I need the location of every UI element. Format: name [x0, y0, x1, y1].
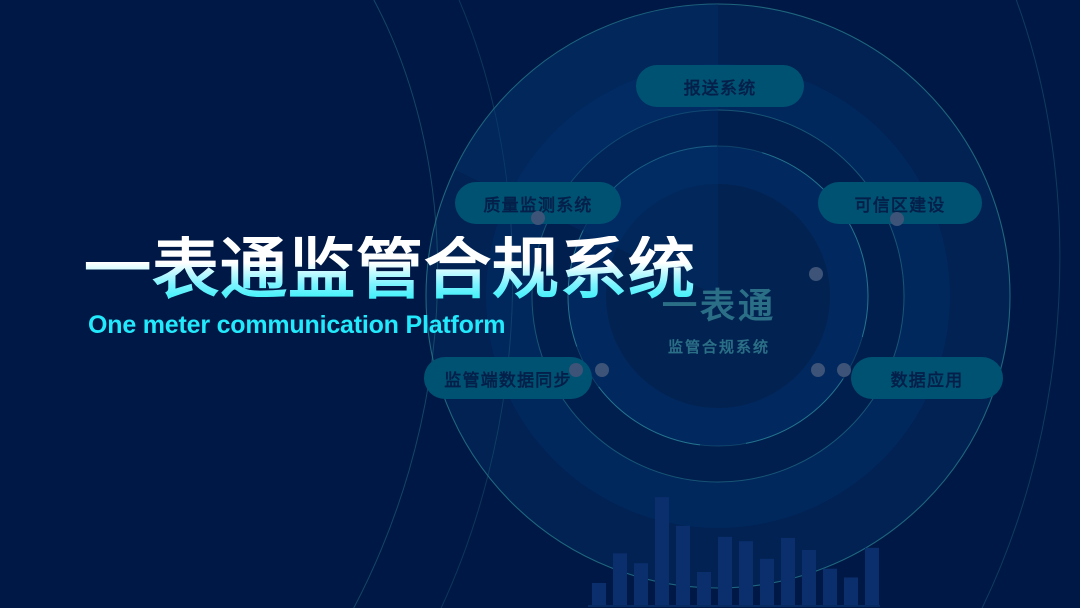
connector-dot [837, 363, 851, 377]
node-pill-data-application[interactable]: 数据应用 [851, 357, 1003, 399]
connector-dot [890, 212, 904, 226]
chart-bar [781, 538, 795, 605]
connector-dot [811, 363, 825, 377]
node-pill-label: 监管端数据同步 [444, 366, 571, 391]
chart-bar [697, 572, 711, 605]
slide-canvas: 一表通监管合规系统 One meter communication Platfo… [0, 0, 1080, 608]
chart-bar [613, 553, 627, 605]
node-pill-reporting-system[interactable]: 报送系统 [636, 65, 804, 107]
node-pill-label: 数据应用 [891, 366, 964, 391]
chart-bar [802, 550, 816, 605]
connector-dot [595, 363, 609, 377]
connector-dot [569, 363, 583, 377]
chart-bar [739, 541, 753, 605]
chart-bar [655, 497, 669, 605]
page-subtitle: One meter communication Platform [88, 311, 696, 340]
chart-bar [865, 548, 879, 605]
chart-bar [592, 583, 606, 605]
page-title: 一表通监管合规系统 [84, 236, 696, 303]
chart-bar [676, 526, 690, 605]
chart-bar [718, 537, 732, 605]
chart-bar [844, 578, 858, 606]
chart-bar [634, 563, 648, 605]
chart-bar [823, 569, 837, 605]
node-pill-label: 报送系统 [684, 74, 757, 99]
chart-bar [760, 559, 774, 605]
headline-block: 一表通监管合规系统 One meter communication Platfo… [84, 236, 696, 340]
connector-dot [809, 267, 823, 281]
connector-dot [531, 211, 545, 225]
node-pill-regulator-data-sync[interactable]: 监管端数据同步 [424, 357, 592, 399]
